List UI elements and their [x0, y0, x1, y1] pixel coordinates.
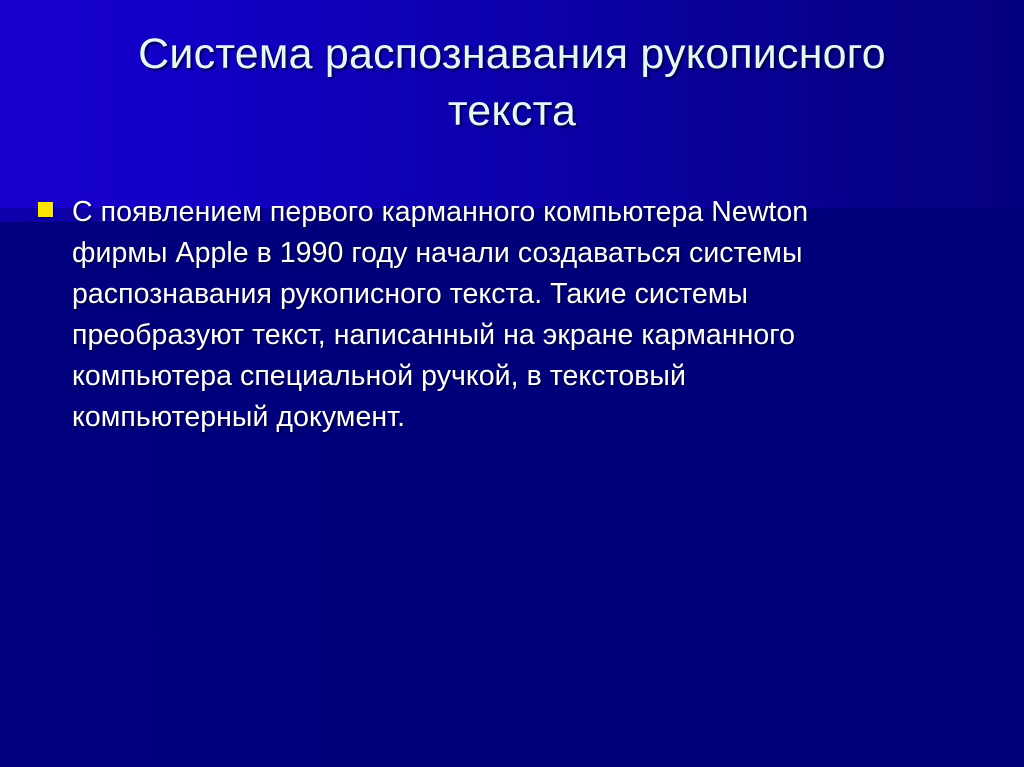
presentation-slide: Система распознавания рукописного текста… [0, 0, 1024, 767]
slide-title-line-1: Система распознавания рукописного [44, 26, 980, 83]
bullet-list-item: С появлением первого карманного компьюте… [34, 192, 994, 438]
bullet-text-line-4: преобразуют текст, написанный на экране … [72, 315, 977, 356]
slide-title: Система распознавания рукописного текста [44, 26, 980, 140]
bullet-text-line-2: фирмы Apple в 1990 году начали создавать… [72, 233, 977, 274]
slide-title-line-2: текста [44, 83, 980, 140]
bullet-text-line-1: С появлением первого карманного компьюте… [72, 192, 977, 233]
bullet-text-line-5: компьютера специальной ручкой, в текстов… [72, 356, 977, 397]
bullet-text-line-3: распознавания рукописного текста. Такие … [72, 274, 977, 315]
bullet-text-line-6: компьютерный документ. [72, 397, 977, 438]
slide-body: С появлением первого карманного компьюте… [34, 192, 994, 438]
bullet-item-text: С появлением первого карманного компьюте… [72, 192, 977, 438]
square-bullet-icon [38, 202, 53, 217]
